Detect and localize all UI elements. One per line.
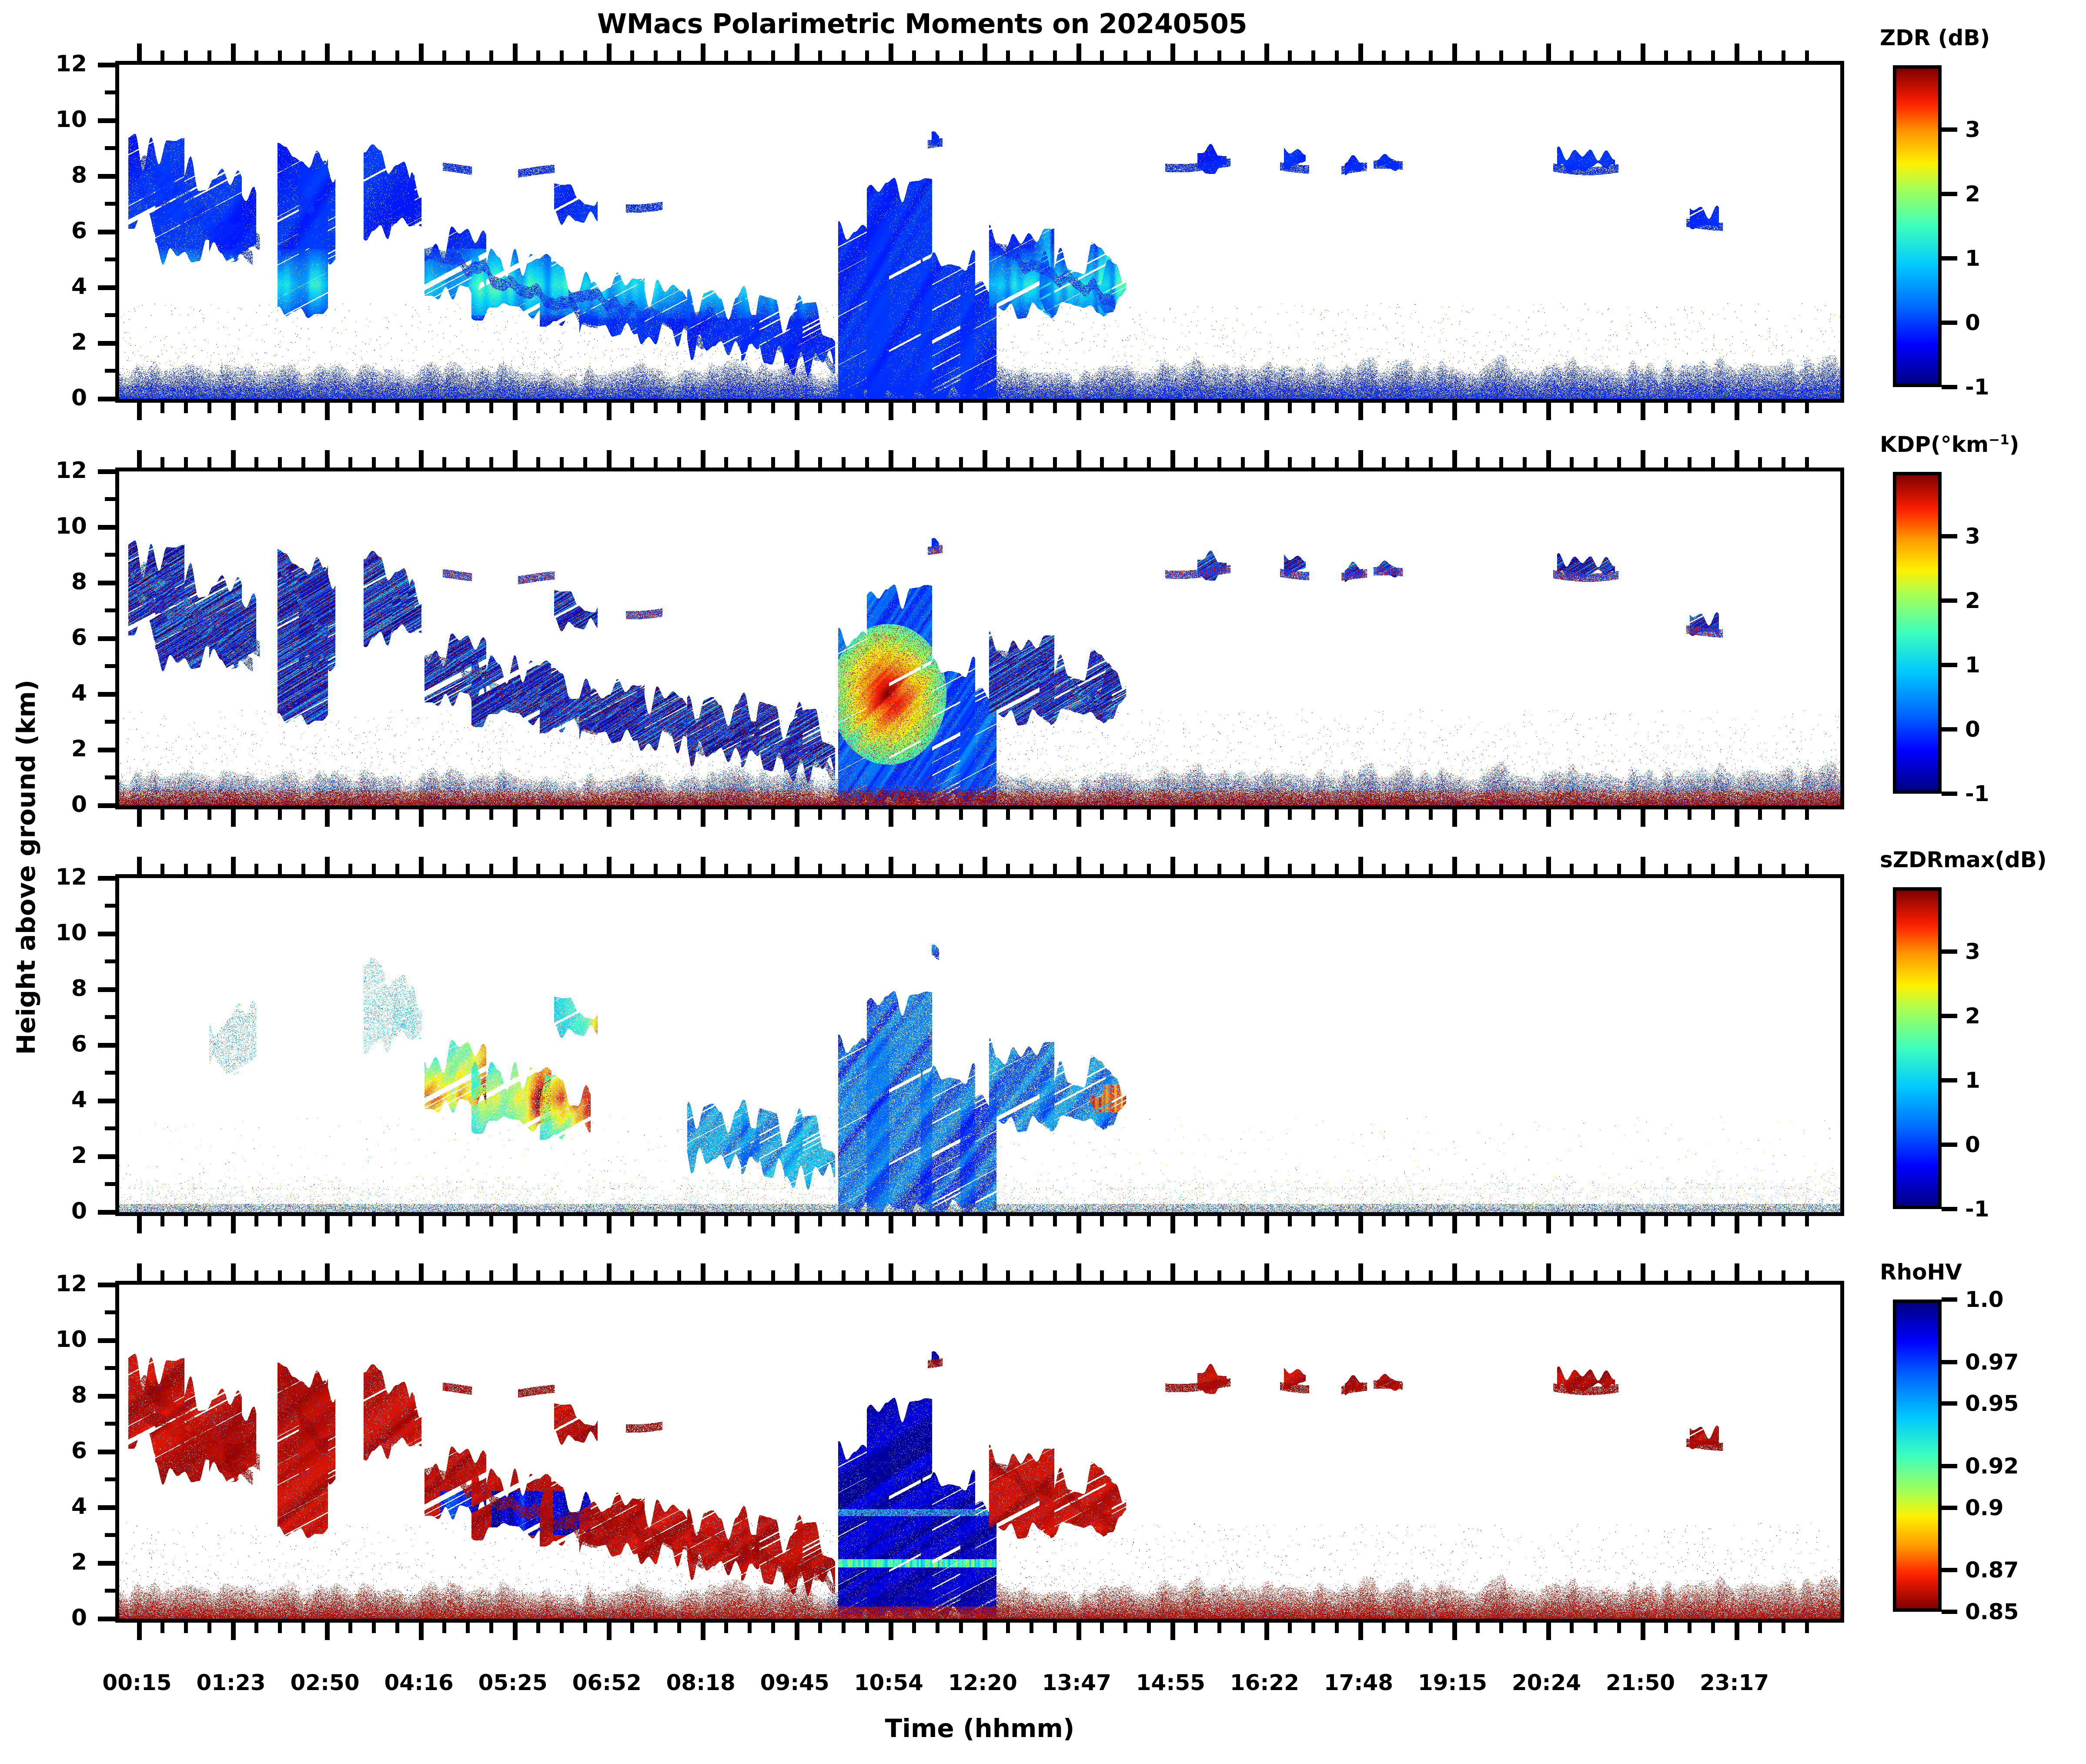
x-tick <box>1147 1270 1151 1281</box>
x-tick <box>1452 43 1457 61</box>
x-tick <box>959 1270 963 1281</box>
x-tick <box>1782 403 1785 413</box>
x-tick <box>1382 809 1386 820</box>
x-tick <box>818 1270 822 1281</box>
x-tick <box>560 864 564 874</box>
y-tick <box>98 118 115 123</box>
y-tick <box>98 397 115 401</box>
x-tick <box>1123 864 1127 874</box>
colorbar-tick-label: -1 <box>1965 781 1989 806</box>
x-tick <box>1288 1623 1292 1633</box>
x-tick <box>513 1216 518 1233</box>
x-tick <box>630 50 634 61</box>
x-tick <box>630 1270 634 1281</box>
x-tick <box>160 1623 164 1633</box>
y-tick <box>98 692 115 697</box>
x-tick <box>1664 1216 1668 1226</box>
x-tick <box>654 1623 658 1633</box>
x-tick <box>1358 1216 1363 1233</box>
x-tick <box>372 1216 376 1226</box>
y-tick <box>105 90 115 94</box>
x-tick <box>912 50 916 61</box>
y-tick <box>98 63 115 67</box>
y-tick-label: 2 <box>22 1143 87 1169</box>
x-tick <box>1053 403 1057 413</box>
x-tick <box>1641 43 1645 61</box>
x-tick <box>936 864 939 874</box>
x-tick <box>1664 1270 1668 1281</box>
x-tick <box>1711 457 1715 468</box>
x-tick <box>1499 457 1503 468</box>
x-tick <box>372 50 376 61</box>
x-tick <box>1288 809 1292 820</box>
x-tick <box>1335 403 1339 413</box>
x-tick <box>1147 809 1151 820</box>
x-tick <box>442 1270 446 1281</box>
x-tick <box>1429 1216 1433 1226</box>
x-tick <box>160 457 164 468</box>
x-tick <box>889 809 893 827</box>
figure-root: WMacs Polarimetric Moments on 20240505 H… <box>0 0 2086 1764</box>
x-tick <box>1030 864 1033 874</box>
x-tick <box>1546 403 1551 420</box>
x-tick <box>1382 457 1386 468</box>
colorbar-tick-label: 0.87 <box>1965 1557 2019 1583</box>
y-tick <box>98 581 115 585</box>
x-tick <box>959 1216 963 1226</box>
x-tick <box>395 457 399 468</box>
x-tick <box>1288 864 1292 874</box>
x-tick <box>1570 403 1574 413</box>
x-tick <box>207 457 211 468</box>
colorbar-gradient <box>1893 1300 1942 1612</box>
y-tick-label: 0 <box>22 1198 87 1224</box>
x-tick <box>1382 50 1386 61</box>
x-tick <box>1358 1263 1363 1281</box>
colorbar-tick <box>1942 949 1957 954</box>
x-tick <box>701 1623 705 1640</box>
x-tick <box>1735 43 1739 61</box>
x-tick <box>724 1216 728 1226</box>
x-tick <box>983 1623 987 1640</box>
y-tick-label: 4 <box>22 680 87 706</box>
x-tick <box>1452 857 1457 874</box>
x-tick <box>254 457 258 468</box>
x-tick <box>489 1270 493 1281</box>
x-tick <box>654 864 658 874</box>
x-tick <box>654 1216 658 1226</box>
x-tick <box>466 1270 470 1281</box>
x-tick <box>1006 1216 1010 1226</box>
colorbar-tick-label: 2 <box>1965 1003 1980 1029</box>
x-tick <box>325 43 330 61</box>
x-tick <box>889 1263 893 1281</box>
x-tick <box>748 864 752 874</box>
x-tick <box>771 403 775 413</box>
x-tick <box>1264 403 1269 420</box>
y-tick <box>105 497 115 501</box>
x-tick <box>348 457 352 468</box>
x-tick <box>395 1623 399 1633</box>
x-tick <box>395 50 399 61</box>
x-tick <box>1546 450 1551 468</box>
x-tick <box>207 1270 211 1281</box>
colorbar-title: RhoHV <box>1880 1260 2084 1285</box>
x-tick <box>1030 403 1033 413</box>
y-tick <box>105 257 115 261</box>
x-tick <box>1217 50 1221 61</box>
x-tick <box>325 1216 330 1233</box>
x-tick <box>489 1623 493 1633</box>
x-tick <box>1241 457 1245 468</box>
y-tick <box>105 1589 115 1593</box>
x-tick <box>1805 1216 1809 1226</box>
x-tick <box>1617 403 1621 413</box>
x-tick <box>1688 864 1692 874</box>
y-tick <box>98 469 115 474</box>
x-tick <box>865 864 869 874</box>
x-tick <box>771 1216 775 1226</box>
y-tick <box>105 664 115 668</box>
x-tick <box>959 809 963 820</box>
x-tick <box>442 50 446 61</box>
x-tick <box>1758 809 1762 820</box>
x-tick <box>1264 857 1269 874</box>
x-tick <box>936 457 939 468</box>
colorbar-tick <box>1942 1401 1957 1406</box>
chart-panel-rhohv[interactable] <box>115 1281 1844 1623</box>
x-tick <box>748 403 752 413</box>
x-tick <box>1546 809 1551 827</box>
x-tick <box>301 457 305 468</box>
x-tick <box>184 1270 188 1281</box>
x-tick <box>1758 457 1762 468</box>
x-tick <box>677 403 681 413</box>
x-tick <box>278 403 282 413</box>
x-tick <box>1476 864 1480 874</box>
x-tick <box>372 1623 376 1633</box>
colorbar-tick <box>1942 534 1957 538</box>
x-tick <box>1805 809 1809 820</box>
x-tick <box>795 403 799 420</box>
x-tick <box>372 864 376 874</box>
x-tick <box>513 1263 518 1281</box>
x-tick <box>818 864 822 874</box>
x-tick <box>1805 1270 1809 1281</box>
x-tick <box>1030 1216 1033 1226</box>
x-tick <box>1217 457 1221 468</box>
colorbar-title: sZDRmax(dB) <box>1880 847 2084 872</box>
x-tick <box>1735 809 1739 827</box>
y-tick <box>105 1533 115 1537</box>
plot-area <box>119 1285 1840 1619</box>
y-tick <box>105 608 115 612</box>
x-tick <box>560 50 564 61</box>
x-tick <box>607 857 612 874</box>
x-tick <box>1405 403 1409 413</box>
x-tick <box>536 457 540 468</box>
x-tick <box>278 1623 282 1633</box>
x-tick <box>1523 50 1527 61</box>
radar-echo-canvas <box>119 65 1840 399</box>
x-tick <box>1546 1216 1551 1233</box>
x-tick <box>301 1623 305 1633</box>
y-tick-label: 12 <box>22 458 87 484</box>
colorbar-tick <box>1942 321 1957 325</box>
x-tick <box>442 1623 446 1633</box>
x-tick <box>513 857 518 874</box>
x-tick <box>1217 1216 1221 1226</box>
x-tick <box>889 1623 893 1640</box>
x-tick <box>301 809 305 820</box>
colorbar-zdr: ZDR (dB)3210-1 <box>1893 65 2086 387</box>
x-tick <box>1594 1270 1598 1281</box>
x-tick <box>1452 809 1457 827</box>
x-tick <box>1100 1216 1104 1226</box>
x-tick <box>654 403 658 413</box>
x-tick <box>325 809 330 827</box>
x-tick <box>818 809 822 820</box>
x-tick <box>701 1263 705 1281</box>
x-tick <box>1688 1216 1692 1226</box>
x-tick <box>278 809 282 820</box>
x-tick <box>607 403 612 420</box>
x-tick <box>1053 457 1057 468</box>
y-tick <box>98 1505 115 1510</box>
colorbar-szdrmax: sZDRmax(dB)3210-1 <box>1893 887 2086 1209</box>
y-tick <box>98 1338 115 1343</box>
y-tick-label: 0 <box>22 385 87 411</box>
x-tick <box>1476 457 1480 468</box>
x-tick <box>1711 864 1715 874</box>
x-tick <box>795 43 799 61</box>
y-tick <box>98 987 115 992</box>
colorbar-tick-label: 3 <box>1965 117 1980 142</box>
x-tick <box>1217 864 1221 874</box>
x-tick <box>1594 50 1598 61</box>
y-tick <box>98 748 115 752</box>
x-tick <box>231 857 236 874</box>
x-tick <box>607 450 612 468</box>
x-tick <box>419 403 424 420</box>
x-tick <box>936 403 939 413</box>
x-tick <box>1311 457 1315 468</box>
x-tick <box>207 1623 211 1633</box>
x-tick <box>466 864 470 874</box>
x-tick <box>137 809 142 827</box>
x-tick <box>419 43 424 61</box>
x-tick <box>912 1216 916 1226</box>
x-tick <box>983 809 987 827</box>
y-tick <box>98 174 115 179</box>
x-tick <box>1053 1623 1057 1633</box>
x-tick <box>724 1623 728 1633</box>
x-tick <box>1499 50 1503 61</box>
y-tick <box>105 369 115 373</box>
x-tick <box>842 457 846 468</box>
x-tick <box>207 864 211 874</box>
chart-panel-zdr[interactable] <box>115 61 1844 403</box>
chart-panel-kdp[interactable] <box>115 468 1844 809</box>
x-tick <box>1758 1270 1762 1281</box>
x-tick <box>489 809 493 820</box>
x-tick <box>1617 809 1621 820</box>
x-tick <box>184 50 188 61</box>
x-tick <box>372 1270 376 1281</box>
x-tick-label: 23:17 <box>1669 1670 1800 1695</box>
x-tick <box>889 857 893 874</box>
x-tick <box>536 809 540 820</box>
colorbar-tick-label: 0 <box>1965 310 1980 335</box>
y-tick-label: 8 <box>22 569 87 595</box>
x-tick <box>1311 1216 1315 1226</box>
x-tick <box>1476 809 1480 820</box>
x-tick <box>1123 1623 1127 1633</box>
x-tick <box>1476 1623 1480 1633</box>
x-tick <box>1570 1270 1574 1281</box>
x-tick <box>1711 1216 1715 1226</box>
x-tick <box>701 857 705 874</box>
x-tick <box>842 809 846 820</box>
y-tick <box>98 803 115 808</box>
x-tick <box>325 1623 330 1640</box>
x-tick <box>1476 50 1480 61</box>
x-tick <box>536 1623 540 1633</box>
y-tick <box>98 1210 115 1215</box>
x-tick <box>1405 809 1409 820</box>
x-tick <box>466 809 470 820</box>
x-tick <box>1147 864 1151 874</box>
radar-echo-canvas <box>119 471 1840 805</box>
x-tick <box>1688 1623 1692 1633</box>
x-tick <box>560 1623 564 1633</box>
x-tick <box>1241 403 1245 413</box>
x-tick <box>489 457 493 468</box>
colorbar-tick <box>1942 1297 1957 1302</box>
y-tick <box>105 1015 115 1019</box>
y-tick <box>98 1561 115 1566</box>
x-tick <box>701 450 705 468</box>
x-tick <box>1053 1270 1057 1281</box>
x-tick <box>207 50 211 61</box>
x-tick <box>278 457 282 468</box>
x-tick <box>912 1270 916 1281</box>
x-tick <box>1405 457 1409 468</box>
x-tick <box>1452 1263 1457 1281</box>
x-tick <box>1123 50 1127 61</box>
chart-panel-szdrmax[interactable] <box>115 874 1844 1216</box>
x-tick <box>1758 1216 1762 1226</box>
x-tick <box>513 450 518 468</box>
colorbar-tick-label: 1 <box>1965 246 1980 271</box>
x-tick <box>1782 809 1785 820</box>
y-tick <box>98 1154 115 1159</box>
x-tick <box>1617 1270 1621 1281</box>
x-tick <box>1123 403 1127 413</box>
y-tick <box>105 1071 115 1075</box>
x-tick <box>842 1270 846 1281</box>
x-tick <box>1641 403 1645 420</box>
x-tick <box>1170 809 1175 827</box>
x-tick <box>254 809 258 820</box>
plot-area <box>119 878 1840 1212</box>
x-tick <box>1053 50 1057 61</box>
x-tick <box>137 450 142 468</box>
x-tick <box>583 1216 587 1226</box>
x-tick <box>1429 809 1433 820</box>
x-tick <box>1782 864 1785 874</box>
x-tick <box>724 50 728 61</box>
x-tick <box>1711 1270 1715 1281</box>
x-tick <box>1688 50 1692 61</box>
x-tick <box>1170 450 1175 468</box>
x-tick <box>842 1623 846 1633</box>
x-tick <box>160 809 164 820</box>
x-tick <box>1594 403 1598 413</box>
x-tick <box>1123 457 1127 468</box>
x-tick <box>442 809 446 820</box>
x-tick <box>795 1623 799 1640</box>
x-tick <box>1147 50 1151 61</box>
x-tick <box>912 403 916 413</box>
x-tick <box>677 1270 681 1281</box>
y-tick-label: 12 <box>22 864 87 890</box>
y-tick <box>105 775 115 779</box>
x-tick <box>1264 1216 1269 1233</box>
x-tick <box>1499 864 1503 874</box>
x-tick <box>1053 864 1057 874</box>
colorbar-rhohv: RhoHV1.00.970.950.920.90.870.85 <box>1893 1300 2086 1612</box>
x-tick <box>983 1216 987 1233</box>
x-tick <box>959 403 963 413</box>
x-tick <box>395 1270 399 1281</box>
x-tick <box>1123 809 1127 820</box>
x-tick <box>419 809 424 827</box>
x-tick <box>583 1270 587 1281</box>
x-tick <box>1641 450 1645 468</box>
x-tick <box>160 1270 164 1281</box>
x-tick <box>1194 403 1198 413</box>
colorbar-tick-label: 1 <box>1965 1068 1980 1093</box>
colorbar-tick-label: 1 <box>1965 652 1980 678</box>
x-tick <box>983 450 987 468</box>
x-tick <box>1076 809 1081 827</box>
x-tick <box>1523 1623 1527 1633</box>
x-tick <box>301 403 305 413</box>
x-tick <box>1546 1623 1551 1640</box>
x-tick <box>936 809 939 820</box>
x-tick <box>1335 457 1339 468</box>
colorbar-tick-label: 0.92 <box>1965 1453 2019 1479</box>
x-tick <box>771 864 775 874</box>
x-tick <box>1476 403 1480 413</box>
y-tick-label: 2 <box>22 329 87 355</box>
x-tick <box>1758 403 1762 413</box>
x-tick <box>583 457 587 468</box>
colorbar-tick-label: 2 <box>1965 588 1980 613</box>
x-tick <box>560 403 564 413</box>
x-tick <box>1594 1216 1598 1226</box>
x-tick <box>442 1216 446 1226</box>
x-tick <box>1076 1216 1081 1233</box>
x-tick <box>677 809 681 820</box>
x-tick <box>701 809 705 827</box>
x-tick <box>513 1623 518 1640</box>
x-tick <box>795 450 799 468</box>
x-tick <box>1147 457 1151 468</box>
x-tick <box>1170 43 1175 61</box>
x-tick <box>231 450 236 468</box>
